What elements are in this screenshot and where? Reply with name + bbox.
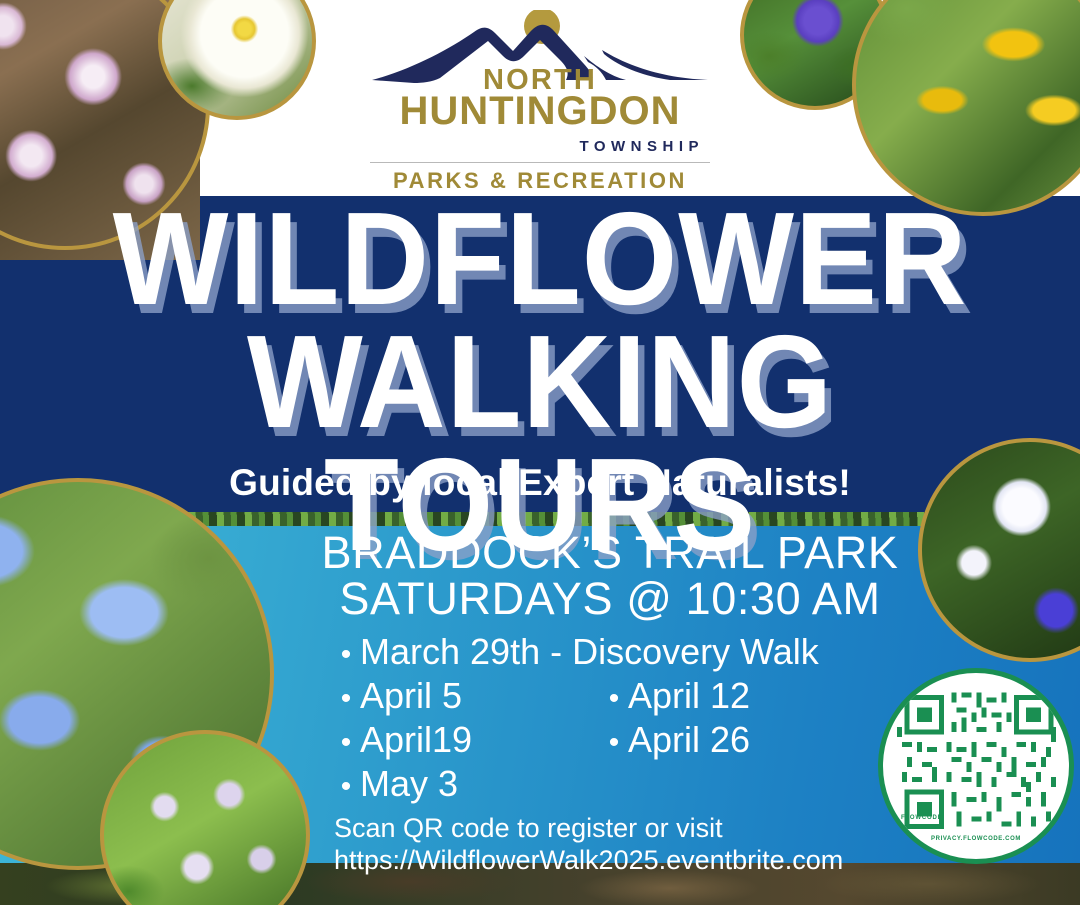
page-title: WILDFLOWER WALKING TOURS [0,198,1080,566]
registration-url[interactable]: https://WildflowerWalk2025.eventbrite.co… [334,845,894,877]
date-label: May 3 [360,762,458,806]
bullet-icon: • [332,769,360,806]
date-row: • May 3 [300,762,920,806]
date-label: April 12 [628,674,750,718]
list-item: • April 26 [600,718,880,762]
registration-footer: Scan QR code to register or visit https:… [334,813,894,877]
list-item: • April 12 [600,674,880,718]
logo-name-line2: HUNTINGDON [370,91,710,131]
bullet-icon: • [600,681,628,718]
title-line-1: WILDFLOWER [38,198,1042,321]
date-label: April19 [360,718,472,762]
date-row: • April 5 • April 12 [300,674,920,718]
event-dates-list: • March 29th - Discovery Walk • April 5 … [300,630,920,806]
list-item: • April 5 [300,674,600,718]
wildflower-walking-tours-flyer: NORTH HUNTINGDON TOWNSHIP PARKS & RECREA… [0,0,1080,905]
bullet-icon: • [332,725,360,762]
qr-privacy-label: PRIVACY.FLOWCODE.COM [883,836,1069,842]
bullet-icon: • [600,725,628,762]
date-label: April 26 [628,718,750,762]
event-schedule: SATURDAYS @ 10:30 AM [300,576,920,622]
qr-code-icon[interactable]: FLOWCODE PRIVACY.FLOWCODE.COM [878,668,1074,864]
logo-divider [370,162,710,163]
qr-brand-label: FLOWCODE [901,815,942,821]
bullet-icon: • [332,681,360,718]
date-label: April 5 [360,674,462,718]
event-location: BRADDOCK’S TRAIL PARK [300,530,920,576]
list-item: • April19 [300,718,600,762]
date-row: • April19 • April 26 [300,718,920,762]
list-item: • March 29th - Discovery Walk [300,630,819,674]
bullet-icon: • [332,637,360,674]
logo-name-line3: TOWNSHIP [579,138,704,155]
list-item: • May 3 [300,762,458,806]
parks-recreation-logo: NORTH HUNTINGDON TOWNSHIP PARKS & RECREA… [370,10,710,180]
date-label: March 29th - Discovery Walk [360,630,819,674]
event-details: BRADDOCK’S TRAIL PARK SATURDAYS @ 10:30 … [300,530,920,805]
footer-instruction: Scan QR code to register or visit [334,813,894,845]
date-row: • March 29th - Discovery Walk [300,630,920,674]
subtitle: Guided by local Expert Naturalists! [0,462,1080,504]
